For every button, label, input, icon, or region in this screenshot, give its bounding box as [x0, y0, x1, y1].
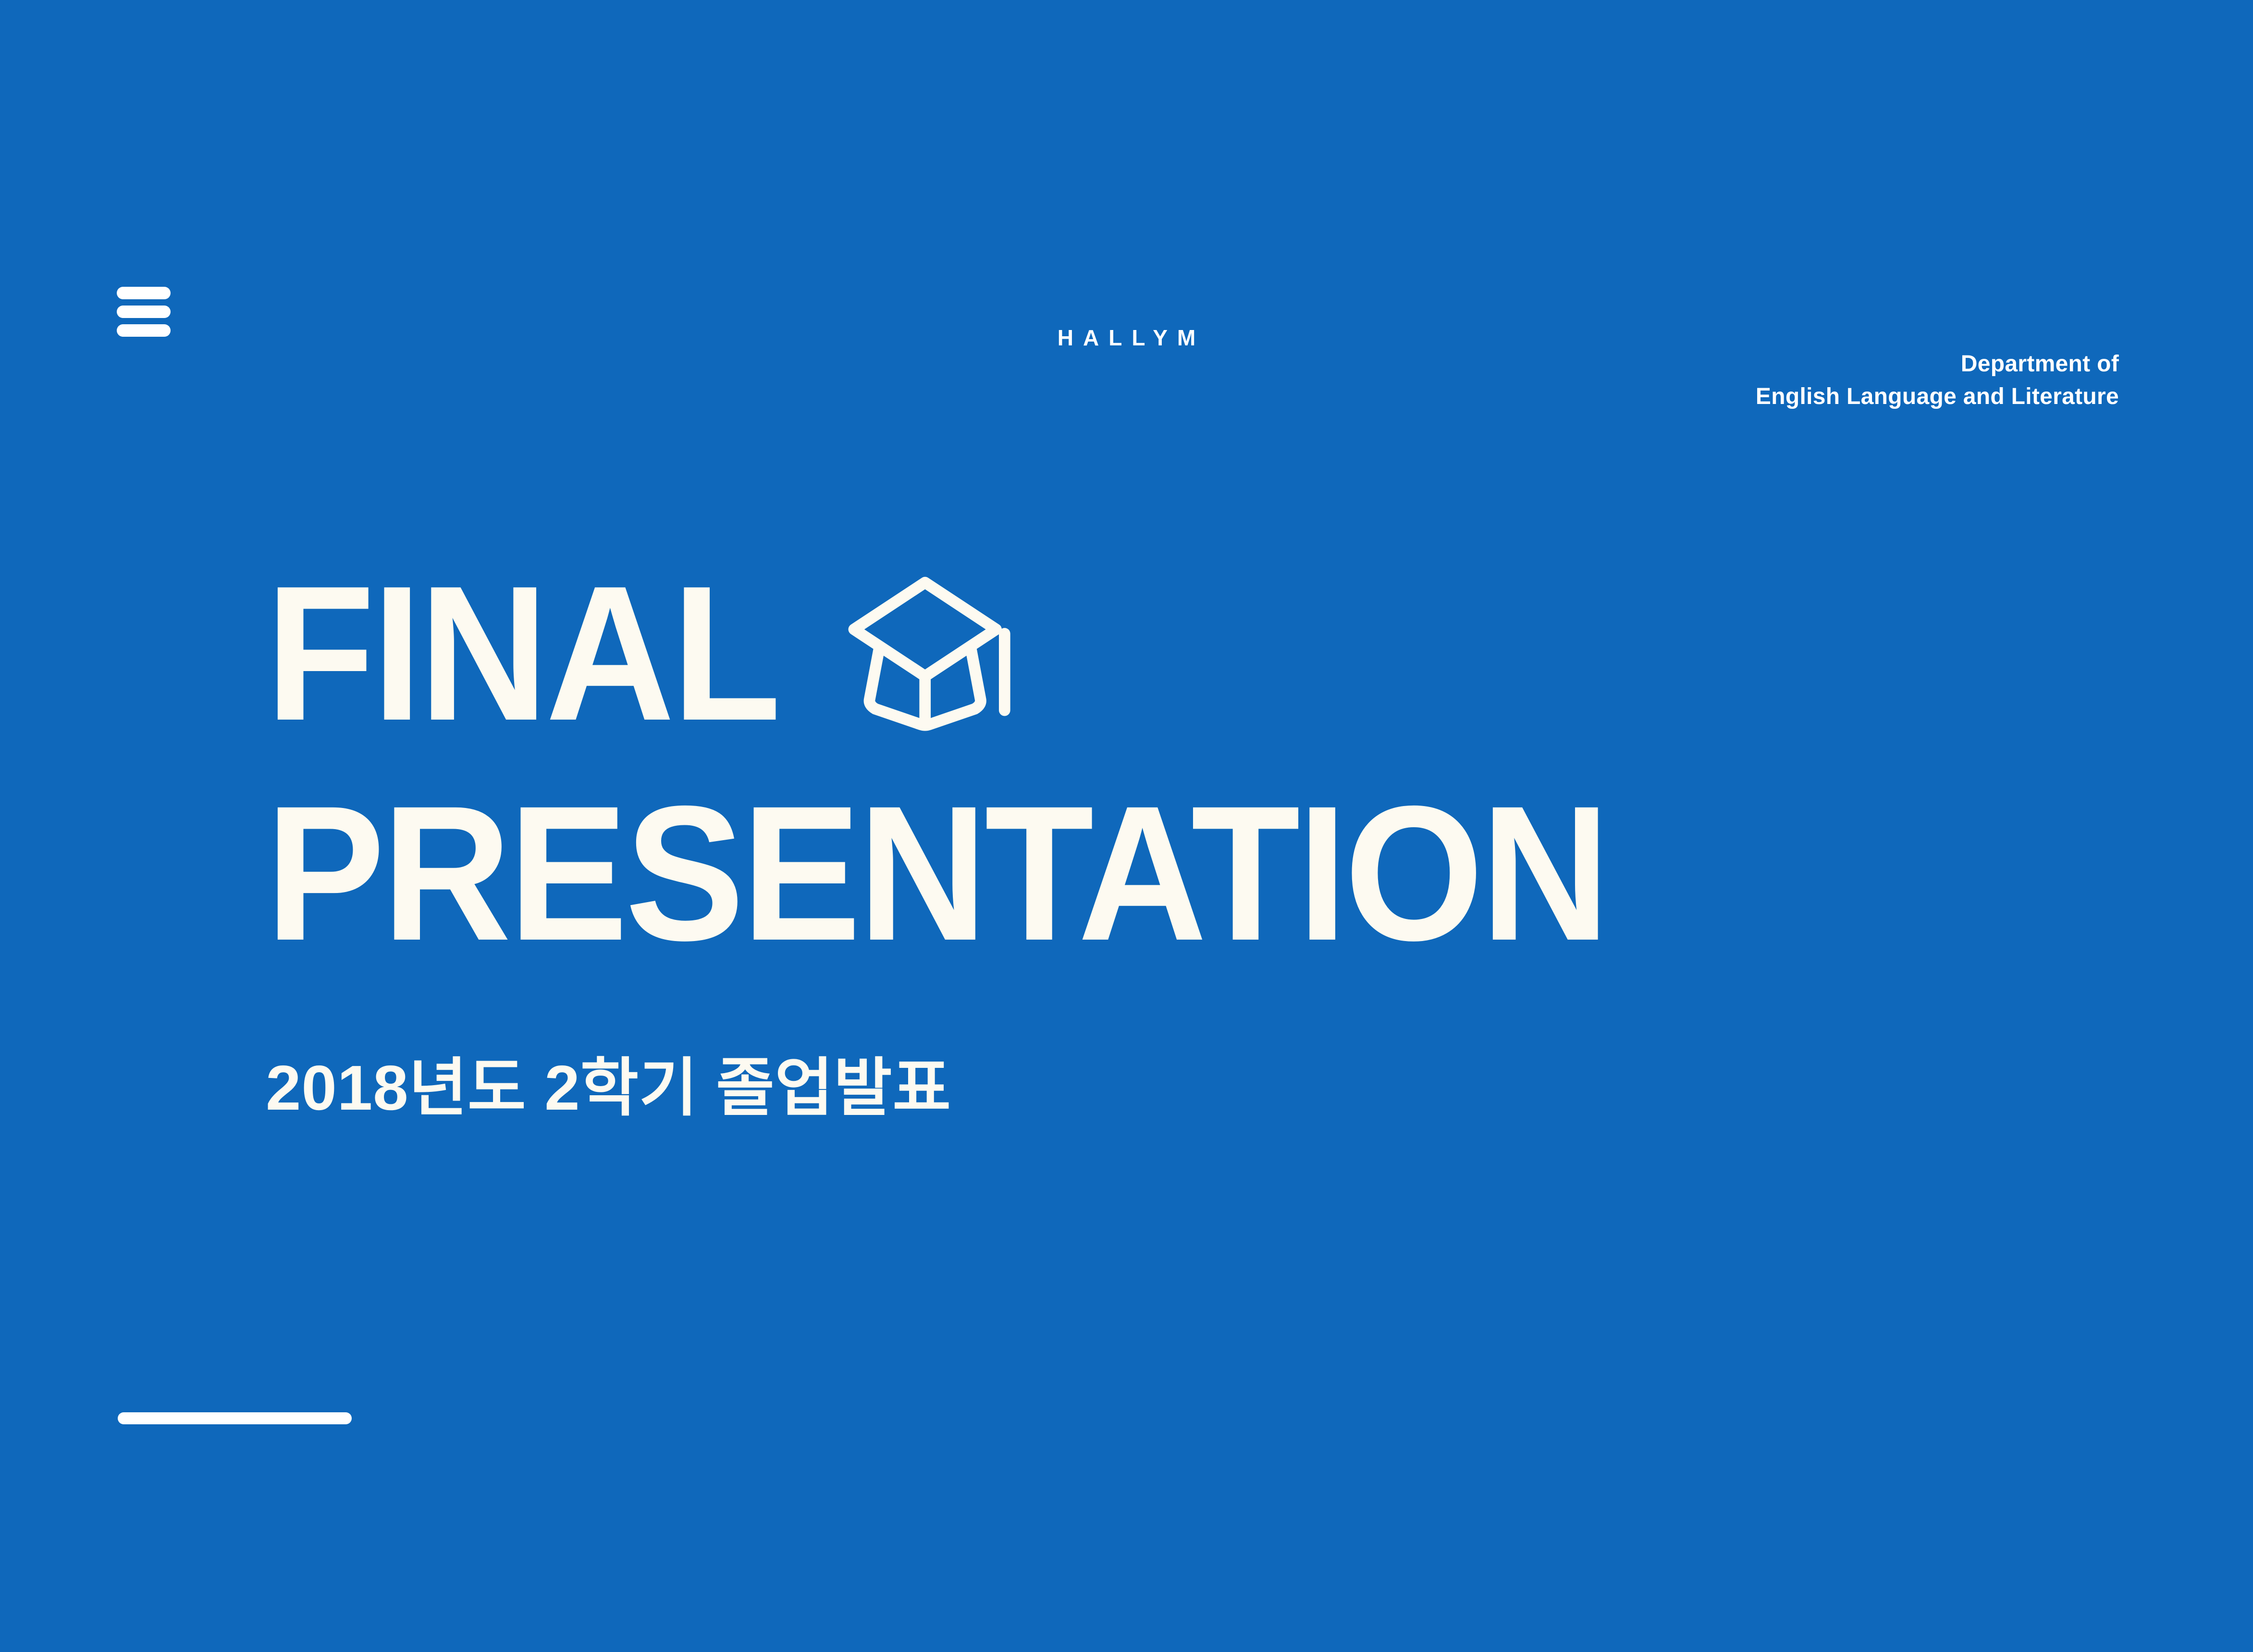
- bottom-divider-rule: [118, 1412, 352, 1424]
- graduation-cap-icon: [838, 568, 1026, 732]
- department-line-2: English Language and Literature: [1756, 380, 2119, 413]
- subtitle: 2018년도 2학기 졸업발표: [266, 1053, 951, 1123]
- hamburger-bar-top: [117, 287, 171, 299]
- hamburger-bar-middle: [117, 306, 171, 318]
- title-word-presentation: PRESENTATION: [266, 793, 1607, 954]
- presentation-title-slide: HALLYM Department of English Language an…: [0, 0, 2253, 1652]
- title-line-1: FINAL: [266, 557, 1995, 749]
- department-block: Department of English Language and Liter…: [1756, 348, 2119, 413]
- title-word-final: FINAL: [266, 573, 778, 734]
- title-line-2: PRESENTATION: [266, 777, 1995, 969]
- department-line-1: Department of: [1756, 348, 2119, 380]
- title-block: FINAL PRESENTATION: [266, 557, 1995, 969]
- brand-wordmark: HALLYM: [0, 327, 2253, 349]
